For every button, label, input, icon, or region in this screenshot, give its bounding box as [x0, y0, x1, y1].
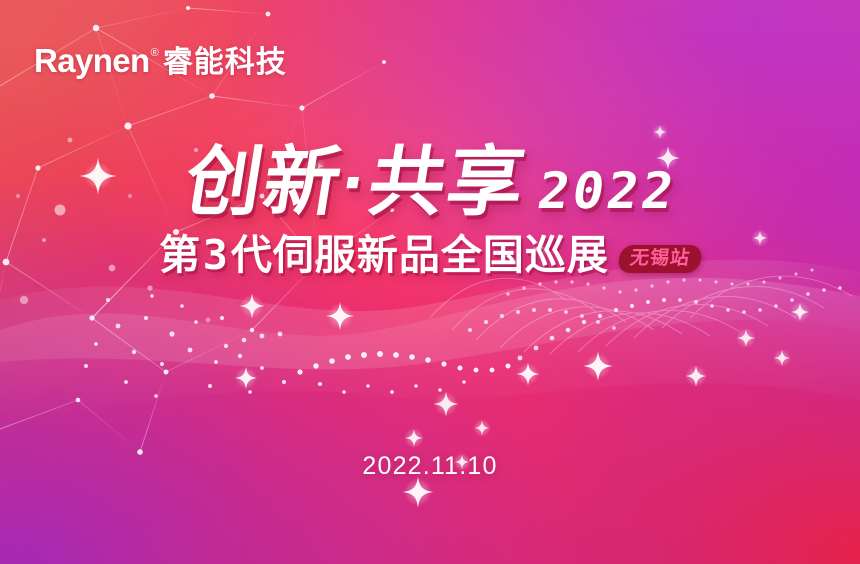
title-row: 创新·共享 2022 [0, 142, 860, 220]
headline-block: 创新·共享 2022 第 3 代伺服新品全国巡展 无锡站 [0, 142, 860, 278]
raynen-logo: Raynen ® 睿能科技 [34, 44, 287, 77]
logo-latin-text: Raynen [34, 44, 150, 77]
registered-trademark-icon: ® [151, 48, 159, 59]
promo-banner: Raynen ® 睿能科技 创新·共享 2022 第 3 代伺服新品全国巡展 无… [0, 0, 860, 564]
logo-chinese-text: 睿能科技 [163, 48, 287, 78]
event-date-line: 2022.11.10 [0, 452, 860, 481]
page-title: 创新·共享 [180, 147, 531, 220]
subtitle-row: 第 3 代伺服新品全国巡展 无锡站 [0, 232, 860, 278]
subtitle-generation-number: 3 [203, 235, 228, 276]
title-year: 2022 [535, 166, 681, 216]
city-badge: 无锡站 [617, 245, 703, 273]
subtitle-prefix: 第 [159, 235, 200, 276]
subtitle-text: 代伺服新品全国巡展 [231, 235, 609, 276]
event-date: 2022.11.10 [362, 452, 497, 480]
